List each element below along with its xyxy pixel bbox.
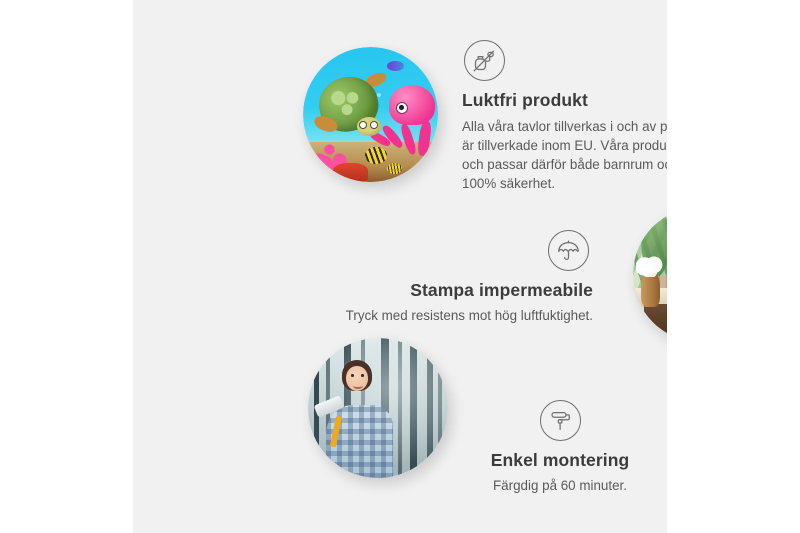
feature-description: Tryck med resistens mot hög luftfuktighe… bbox=[313, 306, 593, 325]
feature-odorless: Luktfri produkt Alla våra tavlor tillver… bbox=[462, 40, 667, 193]
white-flowers bbox=[636, 256, 666, 278]
soap-dish bbox=[665, 293, 667, 301]
ocean-kids-mural-photo bbox=[303, 47, 438, 182]
woman-with-paint-roller-forest-photo bbox=[308, 338, 448, 478]
bathroom-photo-inner bbox=[633, 207, 667, 342]
feature-easy-mounting: Enkel montering Färgdig på 60 minuter. bbox=[445, 400, 667, 495]
feature-waterproof: Stampa impermeabile Tryck med resistens … bbox=[313, 230, 593, 325]
octopus-eye bbox=[396, 102, 408, 114]
paint-roller-icon bbox=[540, 400, 581, 441]
eye bbox=[361, 374, 364, 376]
eye bbox=[351, 374, 354, 376]
feature-description: Alla våra tavlor tillverkas i och av pro… bbox=[462, 117, 667, 193]
small-fish-illustration bbox=[387, 163, 402, 174]
yellow-fish-illustration bbox=[365, 147, 387, 165]
smile bbox=[353, 383, 363, 389]
ocean-photo-inner bbox=[303, 47, 438, 182]
feature-description: Färgdig på 60 minuter. bbox=[445, 476, 667, 495]
red-reef-object bbox=[333, 163, 368, 182]
vanity-cabinet bbox=[644, 304, 667, 342]
image-canvas: Luktfri produkt Alla våra tavlor tillver… bbox=[0, 0, 800, 533]
octopus-illustration bbox=[389, 85, 435, 126]
feature-panel: Luktfri produkt Alla våra tavlor tillver… bbox=[133, 0, 667, 533]
feature-title: Stampa impermeabile bbox=[313, 280, 593, 301]
umbrella-icon bbox=[548, 230, 589, 271]
bathroom-tropical-wallpaper-photo bbox=[633, 207, 667, 342]
feature-title: Enkel montering bbox=[445, 450, 667, 471]
no-odor-perfume-icon bbox=[464, 40, 505, 81]
feature-title: Luktfri produkt bbox=[462, 90, 667, 111]
forest-photo-inner bbox=[308, 338, 448, 478]
